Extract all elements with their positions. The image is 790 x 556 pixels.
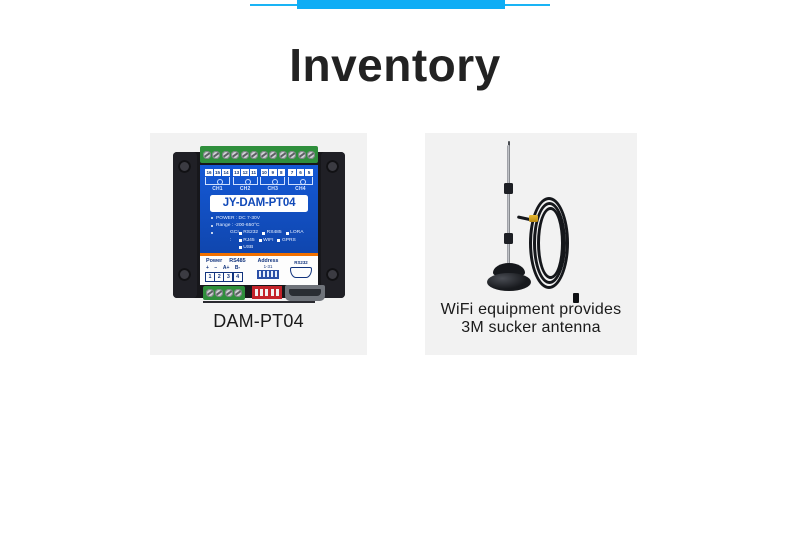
gci-option-label: USB <box>243 244 253 251</box>
dip-pin <box>275 271 277 277</box>
gci-option-list: RS232 RS485 LORA RJ45 <box>239 229 311 251</box>
mounting-hole-top-right <box>326 160 339 173</box>
terminal-box: 4 <box>233 272 243 282</box>
power-rs485-headings: Power RS485 <box>206 258 246 264</box>
antenna-whip <box>507 145 510 267</box>
terminal-screw-icon <box>260 151 268 159</box>
dip-pin <box>267 271 269 277</box>
sensor-wiring-icon <box>288 177 313 185</box>
rs232-section: RS232 <box>288 260 314 278</box>
gci-option-label: WIFI <box>263 237 273 244</box>
checkbox-icon <box>239 239 242 242</box>
model-badge: JY-DAM-PT04 <box>210 195 308 212</box>
terminal-number: 12 <box>241 169 249 176</box>
channel-group: 7 6 5 CH4 <box>288 169 313 192</box>
terminal-number: 14 <box>222 169 230 176</box>
spec-item-gci: GCI : RS232 RS485 LORA <box>211 229 311 251</box>
terminal-number: 9 <box>269 169 277 176</box>
terminal-screw-icon <box>307 151 315 159</box>
dip-pin <box>265 289 268 296</box>
polarity-label: A+ <box>223 265 230 271</box>
terminal-screw-icon <box>215 289 223 297</box>
sma-connector <box>529 215 538 222</box>
dip-pin <box>271 271 273 277</box>
gci-option-label: GPRS <box>282 237 296 244</box>
sensor-wiring-icon <box>205 177 230 185</box>
checkbox-icon <box>286 232 289 235</box>
spec-text: Range : -200-650°C <box>216 222 260 229</box>
antenna-illustration <box>477 145 587 297</box>
bullet-icon <box>211 225 213 227</box>
cable-loop <box>537 207 564 279</box>
gci-option: RS232 <box>239 229 258 236</box>
antenna-joint <box>504 183 513 194</box>
polarity-label: + <box>206 265 209 271</box>
antenna-joint <box>504 233 513 244</box>
terminal-screw-icon <box>298 151 306 159</box>
terminal-strip-bottom <box>203 286 245 300</box>
gci-option: LORA <box>286 229 304 236</box>
channel-terminal-numbers: 7 6 5 <box>288 169 313 176</box>
channel-label: CH1 <box>212 186 223 192</box>
channel-diagram: 16 15 14 CH1 13 12 11 CH2 <box>205 169 313 192</box>
channel-group: 16 15 14 CH1 <box>205 169 230 192</box>
dip-pin <box>276 289 279 296</box>
spec-text: POWER : DC 7-30V <box>216 215 260 222</box>
bullet-icon <box>211 232 213 234</box>
terminal-number: 16 <box>205 169 213 176</box>
product-panel-dam-pt04: 16 15 14 CH1 13 12 11 CH2 <box>150 133 367 355</box>
channel-terminal-numbers: 10 9 8 <box>261 169 286 176</box>
device-faceplate: 16 15 14 CH1 13 12 11 CH2 <box>200 165 318 285</box>
terminal-screw-icon <box>250 151 258 159</box>
sensor-wiring-icon <box>260 177 285 185</box>
terminal-number-row: 1 2 3 4 <box>205 272 242 282</box>
address-range: 1-31 <box>255 264 281 269</box>
rs485-label: RS485 <box>229 258 245 264</box>
terminal-number: 11 <box>250 169 258 176</box>
channel-group: 10 9 8 CH3 <box>260 169 285 192</box>
terminal-screw-icon <box>231 151 239 159</box>
mounting-hole-top-left <box>178 160 191 173</box>
spec-item: Range : -200-650°C <box>211 222 311 229</box>
gci-option: GPRS <box>277 237 295 244</box>
terminal-screw-icon <box>234 289 242 297</box>
rs232-label: RS232 <box>288 260 314 265</box>
caption-line-1: WiFi equipment provides <box>425 301 637 319</box>
page-title: Inventory <box>0 42 790 88</box>
address-section: Address 1-31 <box>255 258 281 279</box>
gci-option: USB <box>239 244 254 251</box>
bullet-icon <box>211 217 213 219</box>
checkbox-icon <box>259 239 262 242</box>
dip-pin <box>263 271 265 277</box>
gci-option-label: LORA <box>290 229 303 236</box>
product-panel-antenna: WiFi equipment provides 3M sucker antenn… <box>425 133 637 355</box>
address-label: Address <box>255 258 281 264</box>
terminal-screw-icon <box>288 151 296 159</box>
terminal-screw-icon <box>203 151 211 159</box>
db9-port-icon <box>290 267 312 278</box>
mounting-hole-bottom-right <box>326 268 339 281</box>
dip-pin <box>255 289 258 296</box>
gci-option: RJ45 <box>239 237 255 244</box>
dip-switch-icon <box>257 270 279 279</box>
terminal-screw-icon <box>241 151 249 159</box>
mounting-hole-bottom-left <box>178 268 191 281</box>
terminal-screw-icon <box>212 151 220 159</box>
product-caption-dam-pt04: DAM-PT04 <box>150 311 367 331</box>
device-illustration-dam-pt04: 16 15 14 CH1 13 12 11 CH2 <box>173 146 345 304</box>
checkbox-icon <box>239 246 242 249</box>
caption-line-2: 3M sucker antenna <box>425 319 637 337</box>
polarity-row: + − A+ B- <box>206 265 240 271</box>
channel-label: CH2 <box>240 186 251 192</box>
dip-switch-block-red <box>252 286 282 299</box>
gci-option: RS485 <box>262 229 281 236</box>
terminal-number: 5 <box>305 169 313 176</box>
dip-pin <box>271 289 274 296</box>
dip-pin <box>259 271 261 277</box>
gci-option: WIFI <box>259 237 274 244</box>
dip-pin <box>260 289 263 296</box>
polarity-label: B- <box>235 265 240 271</box>
top-accent-bar <box>297 0 505 9</box>
channel-label: CH4 <box>295 186 306 192</box>
terminal-strip-top <box>200 146 318 163</box>
power-label: Power <box>206 258 222 264</box>
channel-terminal-numbers: 13 12 11 <box>233 169 258 176</box>
polarity-label: − <box>214 265 217 271</box>
device-spec-list: POWER : DC 7-30V Range : -200-650°C GCI … <box>211 215 311 251</box>
channel-group: 13 12 11 CH2 <box>233 169 258 192</box>
channel-terminal-numbers: 16 15 14 <box>205 169 230 176</box>
checkbox-icon <box>277 239 280 242</box>
gci-option-label: RJ45 <box>243 237 254 244</box>
terminal-screw-icon <box>206 289 214 297</box>
terminal-screw-icon <box>269 151 277 159</box>
sensor-wiring-icon <box>233 177 258 185</box>
terminal-number: 10 <box>261 169 269 176</box>
antenna-cable-coil <box>523 197 571 289</box>
spec-item: POWER : DC 7-30V <box>211 215 311 222</box>
terminal-number: 13 <box>233 169 241 176</box>
terminal-number: 8 <box>278 169 286 176</box>
terminal-screw-icon <box>279 151 287 159</box>
product-caption-antenna: WiFi equipment provides 3M sucker antenn… <box>425 301 637 337</box>
terminal-number: 15 <box>214 169 222 176</box>
gci-option-label: RS485 <box>267 229 282 236</box>
terminal-number: 6 <box>297 169 305 176</box>
gci-label: GCI : <box>230 229 239 243</box>
device-lower-panel: Power RS485 + − A+ B- 1 2 3 4 Address <box>200 256 318 286</box>
checkbox-icon <box>239 232 242 235</box>
gci-option-label: RS232 <box>243 229 258 236</box>
terminal-number: 7 <box>288 169 296 176</box>
db9-connector <box>285 285 325 301</box>
chassis-edge <box>203 301 315 303</box>
checkbox-icon <box>262 232 265 235</box>
channel-label: CH3 <box>268 186 279 192</box>
terminal-screw-icon <box>225 289 233 297</box>
terminal-screw-icon <box>222 151 230 159</box>
